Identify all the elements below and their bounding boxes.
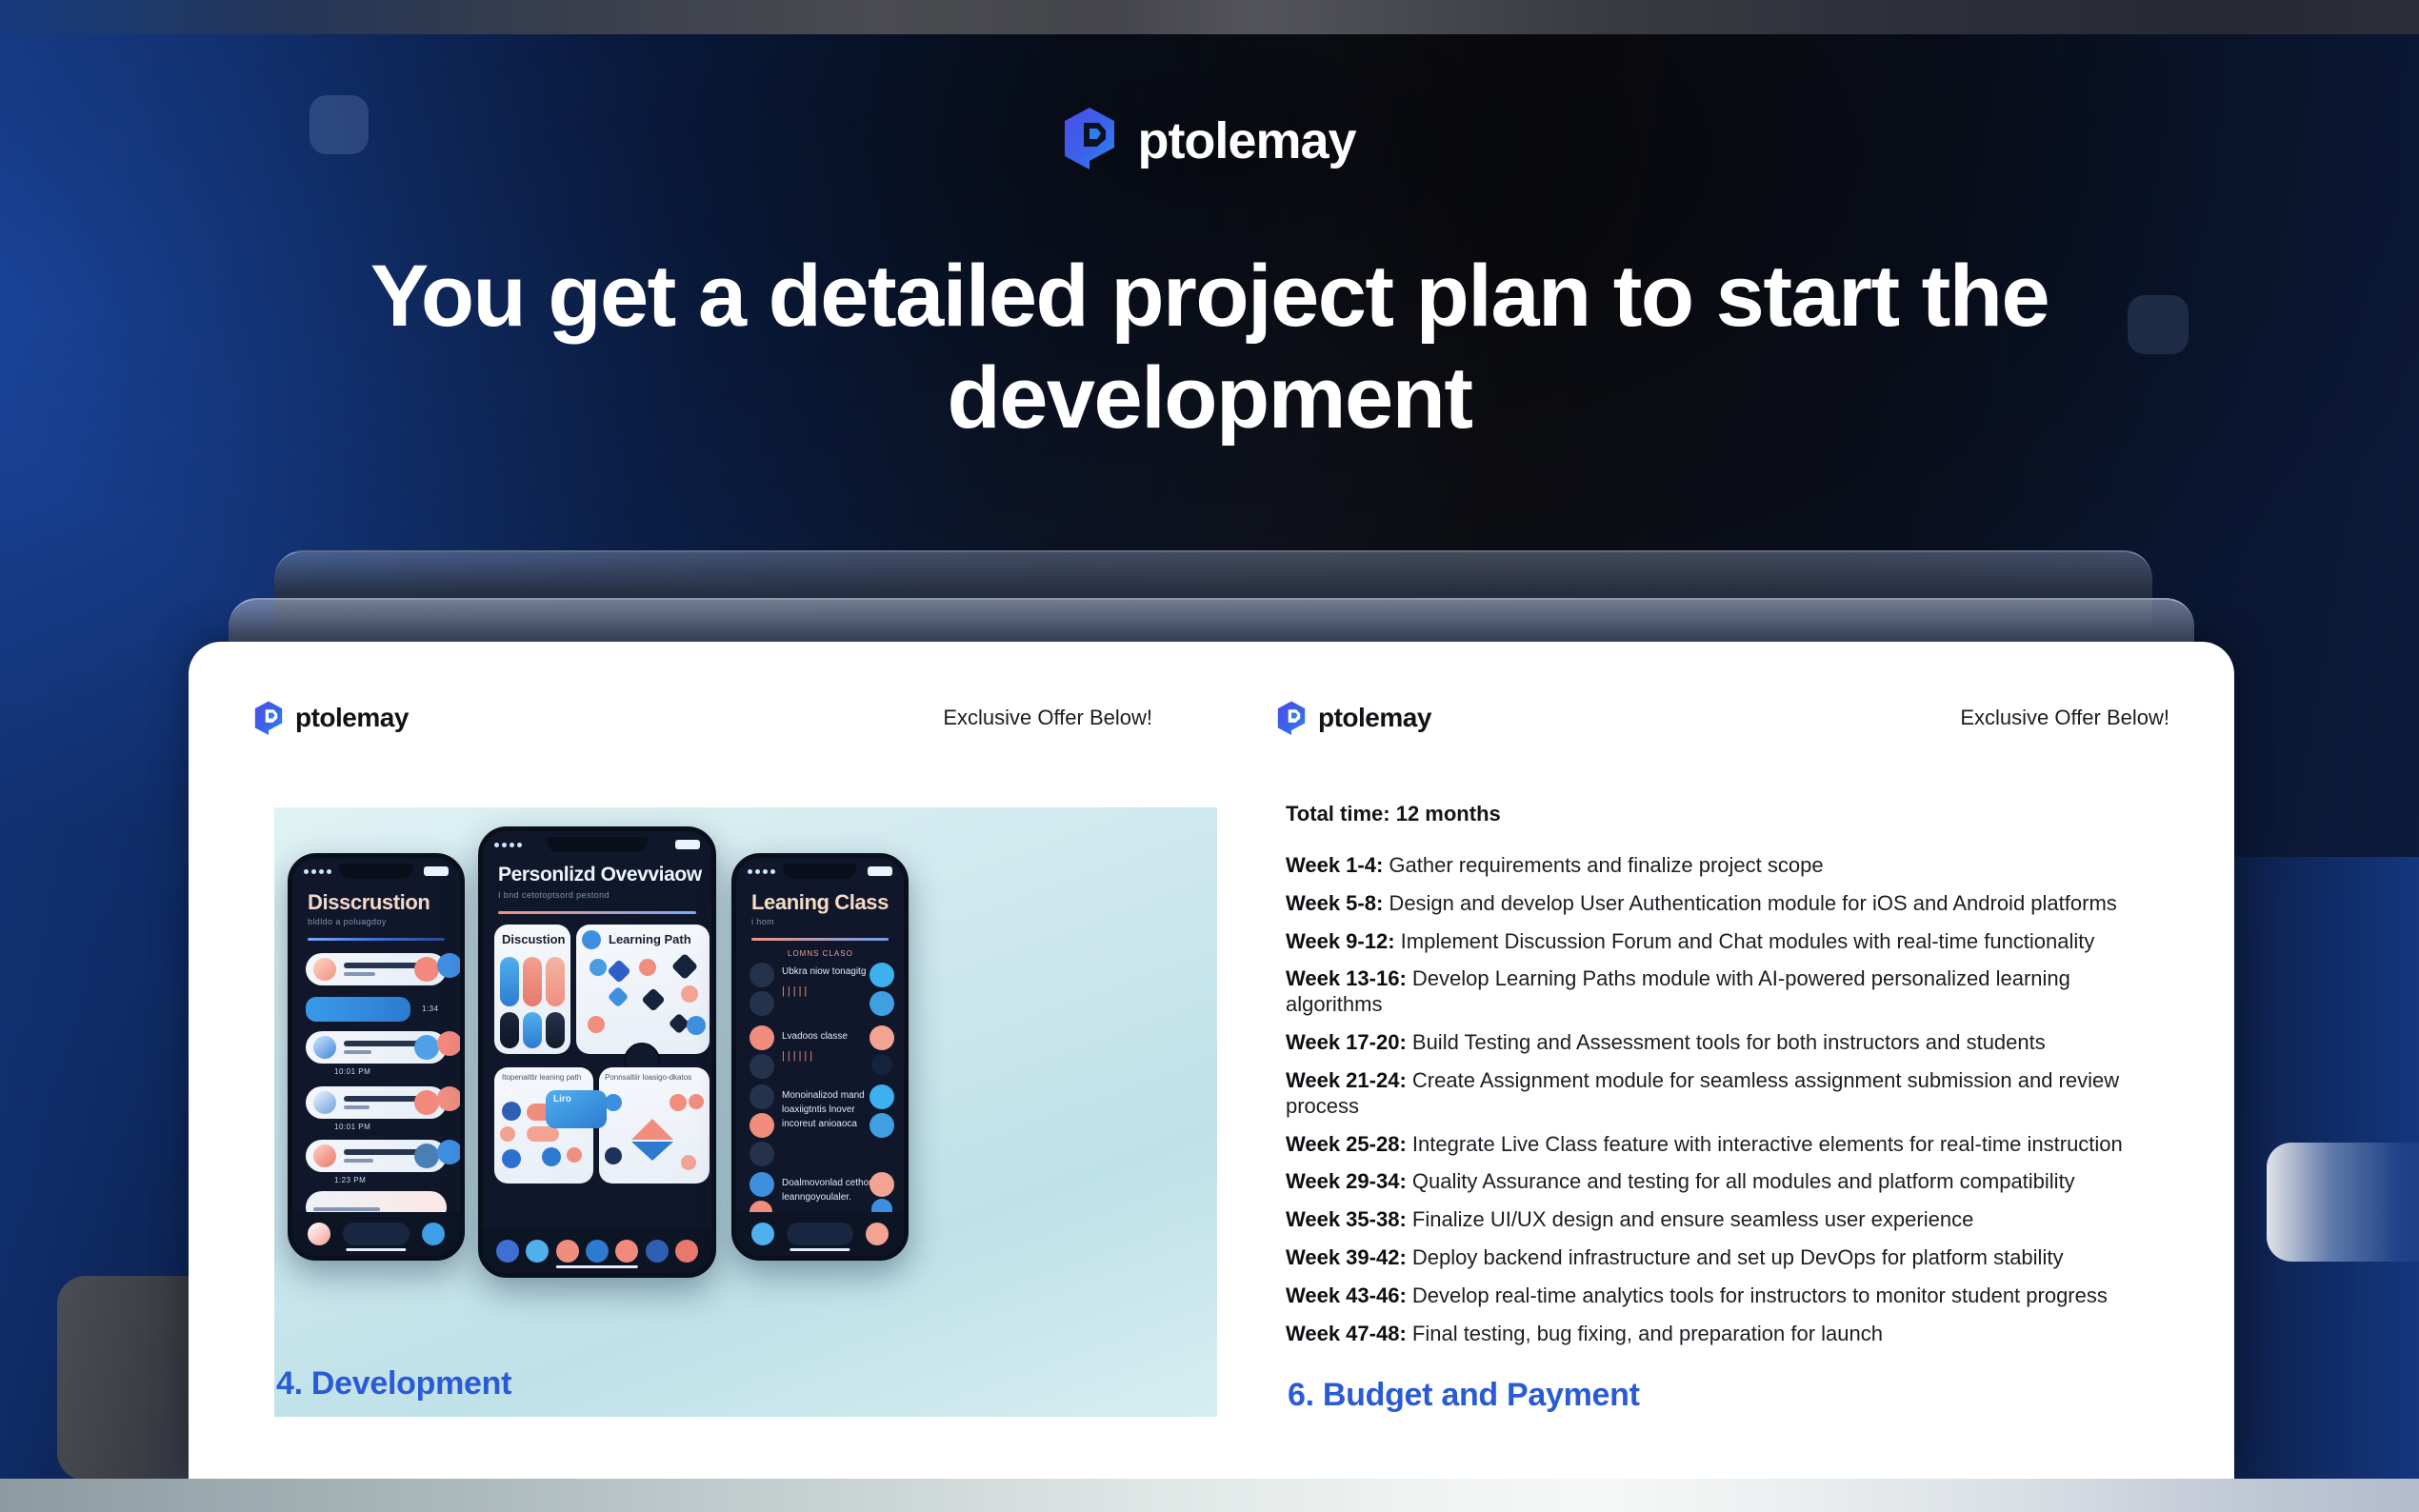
timeline-item-week: Week 9-12: bbox=[1286, 929, 1395, 953]
timeline-item-text: Design and develop User Authentication m… bbox=[1383, 891, 2116, 915]
timeline-item: Week 9-12: Implement Discussion Forum an… bbox=[1286, 929, 2166, 955]
bottom-silver-bar bbox=[0, 1479, 2419, 1512]
floating-square-right-icon bbox=[2267, 1143, 2419, 1262]
total-time-label: Total time: bbox=[1286, 802, 1390, 826]
timeline-item-text: Implement Discussion Forum and Chat modu… bbox=[1395, 929, 2095, 953]
project-timeline: Total time: 12 months Week 1-4: Gather r… bbox=[1286, 802, 2166, 1360]
timeline-item: Week 25-28: Integrate Live Class feature… bbox=[1286, 1132, 2166, 1158]
phone-mockup-1: Disscrustion bldldo a poluagdoy 1:34 10:… bbox=[288, 853, 465, 1261]
timeline-item-text: Final testing, bug fixing, and preparati… bbox=[1407, 1322, 1883, 1345]
phone-2-bubble-label: Liro bbox=[553, 1094, 571, 1104]
ptolemay-logo-icon bbox=[1063, 107, 1116, 174]
document-brand-wordmark-left: ptolemay bbox=[295, 703, 409, 733]
phone-2-card-a-title: Discustion bbox=[502, 932, 565, 946]
timeline-item-week: Week 35-38: bbox=[1286, 1207, 1407, 1231]
ptolemay-logo-icon bbox=[253, 701, 284, 735]
phone-mockup-3: Leaning Class i hom LOMNS CLASO Ubkra ni… bbox=[731, 853, 909, 1261]
top-accent-strip bbox=[0, 0, 2419, 34]
phone-2-subtitle: I bnd cetotoptsord pestond bbox=[498, 890, 610, 900]
timeline-item: Week 29-34: Quality Assurance and testin… bbox=[1286, 1169, 2166, 1195]
phone-2-card-b-title: Learning Path bbox=[609, 932, 691, 946]
document-brand-right: ptolemay bbox=[1276, 701, 1431, 735]
timeline-item-text: Develop real-time analytics tools for in… bbox=[1407, 1283, 2108, 1307]
timeline-item-week: Week 25-28: bbox=[1286, 1132, 1407, 1156]
document-brand-wordmark-right: ptolemay bbox=[1318, 703, 1431, 733]
timeline-item-week: Week 13-16: bbox=[1286, 966, 1407, 990]
section-heading-development: 4. Development bbox=[276, 1365, 511, 1403]
timeline-item: Week 5-8: Design and develop User Authen… bbox=[1286, 891, 2166, 917]
app-mockup-image: Disscrustion bldldo a poluagdoy 1:34 10:… bbox=[189, 807, 1217, 1417]
total-time-line: Total time: 12 months bbox=[1286, 802, 2166, 826]
phone-2-title: Personlizd Ovevviaow bbox=[498, 864, 702, 886]
timeline-item-text: Create Assignment module for seamless as… bbox=[1286, 1068, 2119, 1118]
timeline-item: Week 17-20: Build Testing and Assessment… bbox=[1286, 1030, 2166, 1056]
page-header-left: ptolemay Exclusive Offer Below! bbox=[189, 689, 1211, 746]
ptolemay-logo-icon bbox=[1276, 701, 1307, 735]
site-logo-wordmark: ptolemay bbox=[1137, 111, 1355, 170]
timeline-item-week: Week 29-34: bbox=[1286, 1169, 1407, 1193]
phone-3-title: Leaning Class bbox=[751, 890, 889, 915]
document-page-right: ptolemay Exclusive Offer Below! Total ti… bbox=[1211, 642, 2234, 1480]
exclusive-offer-note-right: Exclusive Offer Below! bbox=[1960, 706, 2169, 730]
timeline-item: Week 13-16: Develop Learning Paths modul… bbox=[1286, 966, 2166, 1018]
timeline-item: Week 1-4: Gather requirements and finali… bbox=[1286, 853, 2166, 879]
timeline-item: Week 35-38: Finalize UI/UX design and en… bbox=[1286, 1207, 2166, 1233]
timeline-item-text: Deploy backend infrastructure and set up… bbox=[1407, 1245, 2064, 1269]
timeline-item-week: Week 5-8: bbox=[1286, 891, 1383, 915]
timeline-item-text: Build Testing and Assessment tools for b… bbox=[1407, 1030, 2046, 1054]
phone-1-subtitle: bldldo a poluagdoy bbox=[308, 917, 387, 926]
page-title: You get a detailed project plan to start… bbox=[229, 246, 2190, 448]
timeline-item-week: Week 1-4: bbox=[1286, 853, 1383, 877]
timeline-item-text: Integrate Live Class feature with intera… bbox=[1407, 1132, 2123, 1156]
timeline-item: Week 47-48: Final testing, bug fixing, a… bbox=[1286, 1322, 2166, 1347]
total-time-value: 12 months bbox=[1396, 802, 1501, 826]
hero-page: ptolemay You get a detailed project plan… bbox=[0, 0, 2419, 1512]
document-preview[interactable]: ptolemay Exclusive Offer Below! Disscrus… bbox=[189, 642, 2234, 1480]
timeline-item-week: Week 21-24: bbox=[1286, 1068, 1407, 1092]
section-heading-budget: 6. Budget and Payment bbox=[1288, 1377, 1640, 1414]
timeline-item: Week 39-42: Deploy backend infrastructur… bbox=[1286, 1245, 2166, 1271]
timeline-item-text: Gather requirements and finalize project… bbox=[1383, 853, 1823, 877]
exclusive-offer-note-left: Exclusive Offer Below! bbox=[943, 706, 1152, 730]
timeline-list: Week 1-4: Gather requirements and finali… bbox=[1286, 853, 2166, 1347]
page-header-right: ptolemay Exclusive Offer Below! bbox=[1211, 689, 2234, 746]
phone-3-subtitle: i hom bbox=[751, 917, 774, 926]
timeline-item-text: Finalize UI/UX design and ensure seamles… bbox=[1407, 1207, 1974, 1231]
timeline-item-text: Quality Assurance and testing for all mo… bbox=[1407, 1169, 2075, 1193]
timeline-item: Week 21-24: Create Assignment module for… bbox=[1286, 1068, 2166, 1120]
site-logo[interactable]: ptolemay bbox=[0, 107, 2419, 174]
timeline-item-week: Week 39-42: bbox=[1286, 1245, 1407, 1269]
timeline-item-week: Week 17-20: bbox=[1286, 1030, 1407, 1054]
document-brand-left: ptolemay bbox=[253, 701, 409, 735]
timeline-item: Week 43-46: Develop real-time analytics … bbox=[1286, 1283, 2166, 1309]
phone-mockup-2: Personlizd Ovevviaow I bnd cetotoptsord … bbox=[478, 826, 716, 1278]
timeline-item-week: Week 47-48: bbox=[1286, 1322, 1407, 1345]
document-page-left: ptolemay Exclusive Offer Below! Disscrus… bbox=[189, 642, 1211, 1480]
phone-1-title: Disscrustion bbox=[308, 890, 430, 915]
timeline-item-week: Week 43-46: bbox=[1286, 1283, 1407, 1307]
